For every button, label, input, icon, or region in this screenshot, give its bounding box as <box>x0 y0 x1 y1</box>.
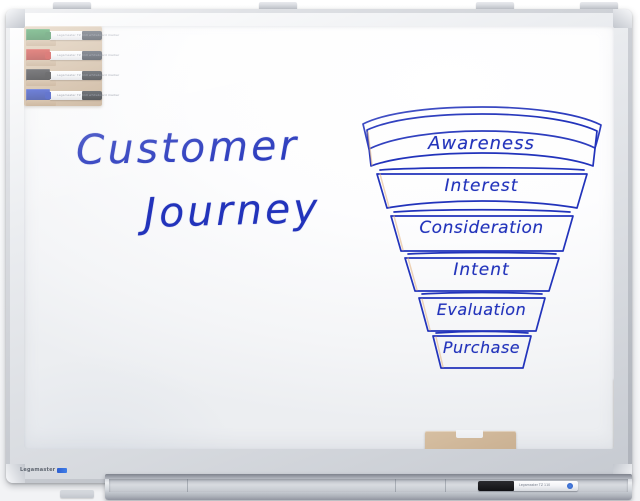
marker-red-label: Legamaster TZ 110 whiteboard marker <box>57 53 102 57</box>
marker-green-tip <box>45 32 51 39</box>
funnel-stage-label-awareness: Awareness <box>349 133 614 154</box>
marker-slot-green[interactable]: Legamaster TZ 110 whiteboard marker <box>26 29 100 45</box>
marker-blue-label: Legamaster TZ 110 whiteboard marker <box>57 93 102 97</box>
wiper-card-notch <box>456 430 483 438</box>
surface-glare-secondary <box>24 259 378 449</box>
marker-slot-sleeve-1 <box>26 40 56 46</box>
pen-tray-seam-3 <box>445 479 446 492</box>
frame-brand-text: Legamaster <box>20 467 55 473</box>
marker-blue-tip <box>45 92 51 99</box>
whiteboard-scene: Legamaster Customer Journey <box>0 0 640 501</box>
marker-slot-sleeve-2 <box>26 60 56 66</box>
frame-brand-logo: Legamaster <box>20 467 67 473</box>
marker-slot-black[interactable]: Legamaster TZ 110 whiteboard marker <box>26 69 100 85</box>
pen-tray-seam-1 <box>187 479 188 492</box>
frame-corner-top-right <box>613 9 632 28</box>
marker-red-tip <box>45 52 51 59</box>
tray-marker-brand-dot <box>567 483 573 489</box>
customer-journey-funnel: Awareness Interest Consideration Intent … <box>349 104 614 354</box>
marker-black[interactable]: Legamaster TZ 110 whiteboard marker <box>50 71 102 80</box>
tray-marker-cap <box>478 481 514 491</box>
funnel-stage-label-evaluation: Evaluation <box>349 300 614 319</box>
tray-marker-black[interactable]: Legamaster TZ 110 <box>478 481 578 491</box>
pen-tray[interactable]: Legamaster TZ 110 <box>105 474 632 500</box>
marker-slot-red[interactable]: Legamaster TZ 110 whiteboard marker <box>26 49 100 65</box>
marker-blue[interactable]: Legamaster TZ 110 whiteboard marker <box>50 91 102 100</box>
marker-black-label: Legamaster TZ 110 whiteboard marker <box>57 73 102 77</box>
marker-slot-blue[interactable]: Legamaster TZ 110 whiteboard marker <box>26 89 100 105</box>
funnel-stage-label-interest: Interest <box>349 176 614 196</box>
marker-black-tip <box>45 72 51 79</box>
marker-holder-box[interactable]: Legamaster TZ 110 whiteboard marker Lega… <box>24 26 102 106</box>
board-wiper-card[interactable]: Legamaster <box>425 431 516 449</box>
funnel-stage-label-intent: Intent <box>349 260 614 280</box>
marker-green-label: Legamaster TZ 110 whiteboard marker <box>57 33 102 37</box>
handwritten-title-line-1: Customer <box>75 121 299 174</box>
marker-slot-sleeve-3 <box>26 80 56 86</box>
whiteboard-frame: Legamaster Customer Journey <box>6 9 632 483</box>
marker-red[interactable]: Legamaster TZ 110 whiteboard marker <box>50 51 102 60</box>
frame-brand-mark <box>57 468 67 473</box>
handwritten-title-line-2: Journey <box>143 184 321 237</box>
pen-tray-seam-2 <box>395 479 396 492</box>
wall-bracket-bottom-1 <box>60 490 94 498</box>
tray-marker-label: Legamaster TZ 110 <box>519 483 550 487</box>
whiteboard-surface[interactable]: Customer Journey <box>24 26 614 449</box>
frame-corner-top-left <box>6 9 25 28</box>
marker-green[interactable]: Legamaster TZ 110 whiteboard marker <box>50 31 102 40</box>
funnel-stage-label-consideration: Consideration <box>349 218 614 238</box>
funnel-stage-label-purchase: Purchase <box>349 338 614 357</box>
marker-slot-sleeve-4 <box>26 100 56 106</box>
